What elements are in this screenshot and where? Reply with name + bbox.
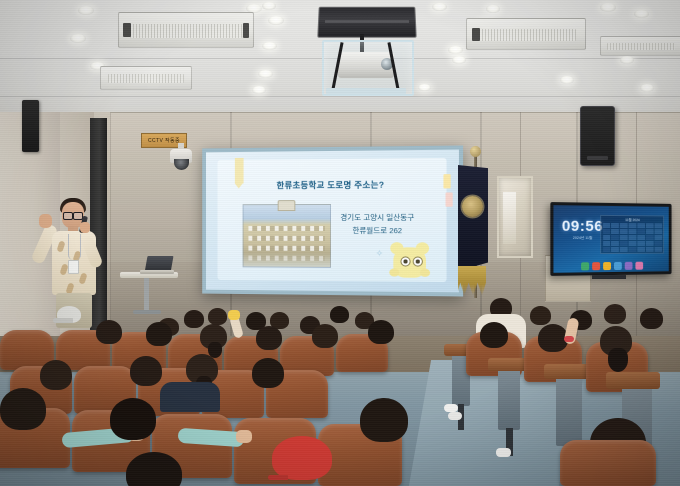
student-head xyxy=(110,398,156,440)
dock-app-icon xyxy=(625,262,633,270)
downlight xyxy=(78,6,94,15)
slide-title: 한류초등학교 도로명 주소는? xyxy=(218,178,447,191)
downlight xyxy=(252,86,266,94)
projection-screen: 한류초등학교 도로명 주소는? 경기도 고양시 일산동구 한류월드로 262 ✧ xyxy=(202,145,463,296)
student-head xyxy=(130,356,162,386)
slide-address: 경기도 고양시 일산동구 한류월드로 262 xyxy=(323,211,432,238)
student-head xyxy=(208,308,227,325)
corner-tab-decoration xyxy=(446,192,453,206)
shoe xyxy=(496,448,511,457)
student-head xyxy=(330,306,349,323)
student-red-cap xyxy=(272,436,332,480)
downlight xyxy=(70,34,86,43)
student-head xyxy=(368,320,394,344)
cctv-sign-label: CCTV 작동중 xyxy=(148,137,180,144)
ceiling-ac-unit xyxy=(466,18,586,50)
tv-calendar-widget: 11월 2024 xyxy=(600,215,664,254)
shoe xyxy=(448,412,462,420)
ceiling xyxy=(0,0,680,118)
laptop-stand-base xyxy=(133,310,161,314)
student-head xyxy=(480,322,508,348)
projector-lift-panel xyxy=(317,7,416,38)
downlight xyxy=(258,70,273,78)
tv-clock-time: 09:56 xyxy=(560,218,605,235)
auditorium-photo: CCTV 작동중 한류초등학교 도로명 주소는? 경기도 고양시 일산동구 xyxy=(0,0,680,486)
presenter-raised-hand xyxy=(39,214,52,228)
seat-armrest xyxy=(544,364,590,379)
id-badge xyxy=(68,260,79,274)
slide-card: 한류초등학교 도로명 주소는? 경기도 고양시 일산동구 한류월드로 262 ✧ xyxy=(218,158,447,282)
flag-emblem-icon xyxy=(462,196,483,217)
wall-niche xyxy=(497,176,533,258)
school-crest-icon xyxy=(278,200,296,211)
dock-app-icon xyxy=(592,262,600,270)
downlight xyxy=(634,10,649,18)
student-head xyxy=(530,306,551,325)
downlight xyxy=(262,2,276,10)
auditorium-seat xyxy=(560,440,656,486)
downlight xyxy=(418,84,431,91)
student-head xyxy=(184,310,204,328)
glasses-icon xyxy=(63,212,83,218)
downlight xyxy=(452,56,466,64)
tv-app-dock[interactable] xyxy=(558,261,665,270)
student-hand xyxy=(236,430,252,443)
shoe xyxy=(444,404,458,412)
tv-screen[interactable]: 09:56 2024년 11월 11월 2024 xyxy=(553,205,668,273)
student-head xyxy=(256,326,282,350)
tv-clock-date: 2024년 11월 xyxy=(560,236,605,241)
student-head xyxy=(312,324,338,348)
student-ponytail xyxy=(608,348,628,372)
mascot-icon xyxy=(387,241,432,280)
student-shoulders xyxy=(160,382,220,412)
student-cap xyxy=(57,306,81,323)
wall-speaker-left xyxy=(22,100,39,152)
seat-side-panel xyxy=(498,368,520,430)
downlight xyxy=(486,5,500,13)
downlight xyxy=(640,84,654,92)
wall-display[interactable]: 09:56 2024년 11월 11월 2024 xyxy=(550,202,671,276)
seat-armrest xyxy=(606,372,660,389)
presenter-mic-hand xyxy=(80,222,90,233)
seat-armrest xyxy=(488,358,528,371)
dock-app-icon xyxy=(635,262,643,270)
projected-slide: 한류초등학교 도로명 주소는? 경기도 고양시 일산동구 한류월드로 262 ✧ xyxy=(206,150,459,293)
downlight xyxy=(600,3,616,12)
downlight xyxy=(620,56,634,64)
dock-app-icon xyxy=(581,262,589,270)
student-head xyxy=(96,320,122,344)
student-head xyxy=(360,398,408,442)
downlight xyxy=(268,16,284,25)
student-head xyxy=(40,360,72,390)
dock-app-icon xyxy=(614,262,622,270)
ceiling-ac-unit xyxy=(118,12,254,48)
lanyard xyxy=(68,234,81,260)
student-head xyxy=(146,322,172,346)
flag-finial xyxy=(470,146,481,157)
student-head xyxy=(604,304,626,324)
tv-stand xyxy=(592,275,626,279)
address-line-2: 한류월드로 262 xyxy=(323,224,432,237)
seat-side-panel xyxy=(556,376,582,446)
tv-clock-widget: 09:56 2024년 11월 xyxy=(560,218,605,242)
laptop-stand-leg xyxy=(144,278,149,312)
school-building-photo xyxy=(243,204,331,268)
ceiling-ac-unit xyxy=(600,36,680,56)
ceiling-ac-unit xyxy=(100,66,192,90)
downlight xyxy=(432,3,447,11)
student-head xyxy=(640,308,663,329)
address-line-1: 경기도 고양시 일산동구 xyxy=(323,211,432,224)
student-head xyxy=(252,358,284,388)
school-flag xyxy=(458,165,488,271)
sparkle-icon: ✧ xyxy=(376,248,384,259)
wall-speaker-right xyxy=(580,106,615,166)
downlight xyxy=(262,42,277,50)
dock-app-icon xyxy=(603,262,611,270)
laptop-keyboard xyxy=(140,270,174,274)
downlight xyxy=(560,76,574,84)
downlight xyxy=(448,46,463,54)
wrist-band xyxy=(564,336,574,342)
held-object xyxy=(228,310,240,320)
projector-cage-base xyxy=(326,88,406,94)
student-head xyxy=(0,388,46,430)
